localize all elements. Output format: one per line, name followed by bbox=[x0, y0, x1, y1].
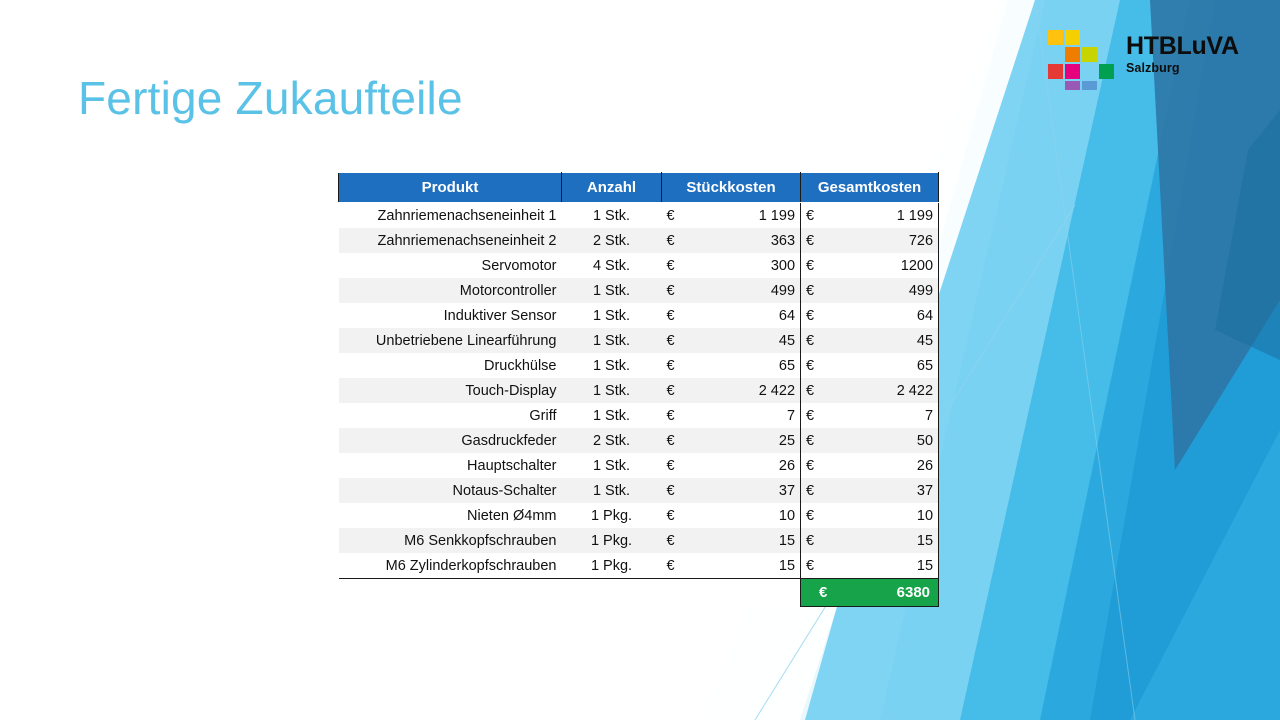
cell-gesamt-currency: € bbox=[801, 378, 831, 403]
cell-gesamtkosten: 15 bbox=[831, 528, 939, 553]
decor-shape-deep bbox=[1090, 0, 1280, 720]
cell-gesamtkosten: 50 bbox=[831, 428, 939, 453]
column-header-produkt: Produkt bbox=[339, 173, 562, 203]
table-total-row: €6380 bbox=[339, 579, 939, 607]
table-row: Nieten Ø4mm1 Pkg.€10€10 bbox=[339, 503, 939, 528]
cell-anzahl: 1 Stk. bbox=[562, 303, 662, 328]
decor-shape-steel bbox=[1215, 110, 1280, 360]
cell-stueckkosten: 26 bbox=[692, 453, 801, 478]
cell-anzahl: 1 Stk. bbox=[562, 203, 662, 229]
cell-produkt: Touch-Display bbox=[339, 378, 562, 403]
cell-stueckkosten: 2 422 bbox=[692, 378, 801, 403]
cell-stueck-currency: € bbox=[662, 303, 692, 328]
decor-shape-cyan bbox=[960, 0, 1280, 720]
decor-shape-light bbox=[880, 0, 1280, 720]
cell-stueckkosten: 64 bbox=[692, 303, 801, 328]
table-header-row: Produkt Anzahl Stückkosten Gesamtkosten bbox=[339, 173, 939, 203]
cell-anzahl: 1 Stk. bbox=[562, 378, 662, 403]
cell-produkt: Zahnriemenachseneinheit 2 bbox=[339, 228, 562, 253]
cell-produkt: Servomotor bbox=[339, 253, 562, 278]
cell-gesamtkosten: 45 bbox=[831, 328, 939, 353]
cell-gesamt-currency: € bbox=[801, 203, 831, 229]
cell-stueck-currency: € bbox=[662, 478, 692, 503]
table-body: Zahnriemenachseneinheit 11 Stk.€1 199€1 … bbox=[339, 203, 939, 607]
cell-gesamtkosten: 1200 bbox=[831, 253, 939, 278]
cell-gesamtkosten: 64 bbox=[831, 303, 939, 328]
cell-stueck-currency: € bbox=[662, 353, 692, 378]
total-value: 6380 bbox=[831, 579, 939, 607]
table-row: M6 Zylinderkopfschrauben1 Pkg.€15€15 bbox=[339, 553, 939, 579]
cell-stueck-currency: € bbox=[662, 253, 692, 278]
table-row: Touch-Display1 Stk.€2 422€2 422 bbox=[339, 378, 939, 403]
table-row: Servomotor4 Stk.€300€1200 bbox=[339, 253, 939, 278]
logo: HTBLuVA Salzburg bbox=[1044, 28, 1244, 96]
cell-gesamtkosten: 499 bbox=[831, 278, 939, 303]
decor-line-2 bbox=[1035, 0, 1135, 720]
cell-stueckkosten: 1 199 bbox=[692, 203, 801, 229]
cell-produkt: Griff bbox=[339, 403, 562, 428]
cell-anzahl: 1 Stk. bbox=[562, 403, 662, 428]
cell-stueck-currency: € bbox=[662, 428, 692, 453]
cell-gesamtkosten: 26 bbox=[831, 453, 939, 478]
cell-gesamt-currency: € bbox=[801, 503, 831, 528]
cell-gesamt-currency: € bbox=[801, 253, 831, 278]
cell-produkt: Motorcontroller bbox=[339, 278, 562, 303]
cell-anzahl: 1 Stk. bbox=[562, 453, 662, 478]
slide-canvas: Fertige Zukaufteile HTBLuVA Salzburg bbox=[0, 0, 1280, 720]
page-title: Fertige Zukaufteile bbox=[78, 68, 463, 128]
cell-stueckkosten: 363 bbox=[692, 228, 801, 253]
total-currency: € bbox=[801, 579, 831, 607]
table-row: Griff1 Stk.€7€7 bbox=[339, 403, 939, 428]
cell-gesamtkosten: 15 bbox=[831, 553, 939, 579]
cell-gesamtkosten: 10 bbox=[831, 503, 939, 528]
cell-stueck-currency: € bbox=[662, 503, 692, 528]
table-row: Motorcontroller1 Stk.€499€499 bbox=[339, 278, 939, 303]
cell-produkt: Induktiver Sensor bbox=[339, 303, 562, 328]
column-header-stueckkosten: Stückkosten bbox=[662, 173, 801, 203]
cell-anzahl: 2 Stk. bbox=[562, 228, 662, 253]
cell-anzahl: 1 Stk. bbox=[562, 278, 662, 303]
cell-produkt: Druckhülse bbox=[339, 353, 562, 378]
cell-stueck-currency: € bbox=[662, 278, 692, 303]
table-row: Zahnriemenachseneinheit 11 Stk.€1 199€1 … bbox=[339, 203, 939, 229]
cell-anzahl: 1 Stk. bbox=[562, 478, 662, 503]
cell-anzahl: 1 Pkg. bbox=[562, 528, 662, 553]
total-row-spacer bbox=[339, 579, 801, 607]
table-row: Unbetriebene Linearführung1 Stk.€45€45 bbox=[339, 328, 939, 353]
logo-text: HTBLuVA Salzburg bbox=[1126, 32, 1246, 76]
cell-stueck-currency: € bbox=[662, 203, 692, 229]
cost-table: Produkt Anzahl Stückkosten Gesamtkosten … bbox=[338, 172, 939, 607]
cell-gesamtkosten: 1 199 bbox=[831, 203, 939, 229]
cell-stueck-currency: € bbox=[662, 328, 692, 353]
cell-gesamt-currency: € bbox=[801, 528, 831, 553]
cell-produkt: Notaus-Schalter bbox=[339, 478, 562, 503]
cell-stueckkosten: 15 bbox=[692, 528, 801, 553]
cell-stueck-currency: € bbox=[662, 453, 692, 478]
cell-produkt: Gasdruckfeder bbox=[339, 428, 562, 453]
cell-stueckkosten: 10 bbox=[692, 503, 801, 528]
cell-produkt: Zahnriemenachseneinheit 1 bbox=[339, 203, 562, 229]
cost-table-container: Produkt Anzahl Stückkosten Gesamtkosten … bbox=[338, 172, 938, 607]
column-header-gesamtkosten: Gesamtkosten bbox=[801, 173, 939, 203]
cell-stueckkosten: 7 bbox=[692, 403, 801, 428]
table-row: Notaus-Schalter1 Stk.€37€37 bbox=[339, 478, 939, 503]
cell-gesamt-currency: € bbox=[801, 428, 831, 453]
table-row: M6 Senkkopfschrauben1 Pkg.€15€15 bbox=[339, 528, 939, 553]
cell-produkt: Nieten Ø4mm bbox=[339, 503, 562, 528]
cell-gesamtkosten: 65 bbox=[831, 353, 939, 378]
cell-gesamt-currency: € bbox=[801, 328, 831, 353]
table-header: Produkt Anzahl Stückkosten Gesamtkosten bbox=[339, 173, 939, 203]
cell-stueckkosten: 499 bbox=[692, 278, 801, 303]
cell-anzahl: 2 Stk. bbox=[562, 428, 662, 453]
table-row: Druckhülse1 Stk.€65€65 bbox=[339, 353, 939, 378]
column-header-anzahl: Anzahl bbox=[562, 173, 662, 203]
logo-subtitle: Salzburg bbox=[1126, 61, 1246, 76]
cell-anzahl: 1 Pkg. bbox=[562, 503, 662, 528]
cell-stueckkosten: 37 bbox=[692, 478, 801, 503]
cell-gesamtkosten: 7 bbox=[831, 403, 939, 428]
cell-anzahl: 1 Pkg. bbox=[562, 553, 662, 579]
cell-produkt: M6 Senkkopfschrauben bbox=[339, 528, 562, 553]
cell-produkt: Hauptschalter bbox=[339, 453, 562, 478]
cell-stueck-currency: € bbox=[662, 228, 692, 253]
cell-gesamt-currency: € bbox=[801, 453, 831, 478]
cell-produkt: M6 Zylinderkopfschrauben bbox=[339, 553, 562, 579]
cell-gesamt-currency: € bbox=[801, 403, 831, 428]
cell-gesamt-currency: € bbox=[801, 228, 831, 253]
cell-anzahl: 4 Stk. bbox=[562, 253, 662, 278]
cell-stueck-currency: € bbox=[662, 528, 692, 553]
logo-mark-icon bbox=[1044, 28, 1116, 90]
cell-stueckkosten: 45 bbox=[692, 328, 801, 353]
cell-stueckkosten: 300 bbox=[692, 253, 801, 278]
cell-stueckkosten: 15 bbox=[692, 553, 801, 579]
cell-gesamtkosten: 2 422 bbox=[831, 378, 939, 403]
cell-gesamtkosten: 726 bbox=[831, 228, 939, 253]
cell-gesamt-currency: € bbox=[801, 553, 831, 579]
cell-stueck-currency: € bbox=[662, 403, 692, 428]
decor-shape-mid bbox=[1040, 0, 1280, 720]
logo-name: HTBLuVA bbox=[1126, 32, 1246, 60]
cell-anzahl: 1 Stk. bbox=[562, 353, 662, 378]
table-row: Zahnriemenachseneinheit 22 Stk.€363€726 bbox=[339, 228, 939, 253]
cell-stueckkosten: 65 bbox=[692, 353, 801, 378]
cell-gesamt-currency: € bbox=[801, 303, 831, 328]
cell-stueck-currency: € bbox=[662, 553, 692, 579]
table-row: Hauptschalter1 Stk.€26€26 bbox=[339, 453, 939, 478]
cell-stueckkosten: 25 bbox=[692, 428, 801, 453]
cell-produkt: Unbetriebene Linearführung bbox=[339, 328, 562, 353]
cell-stueck-currency: € bbox=[662, 378, 692, 403]
table-row: Induktiver Sensor1 Stk.€64€64 bbox=[339, 303, 939, 328]
cell-anzahl: 1 Stk. bbox=[562, 328, 662, 353]
cell-gesamt-currency: € bbox=[801, 478, 831, 503]
cell-gesamt-currency: € bbox=[801, 278, 831, 303]
cell-gesamtkosten: 37 bbox=[831, 478, 939, 503]
cell-gesamt-currency: € bbox=[801, 353, 831, 378]
table-row: Gasdruckfeder2 Stk.€25€50 bbox=[339, 428, 939, 453]
